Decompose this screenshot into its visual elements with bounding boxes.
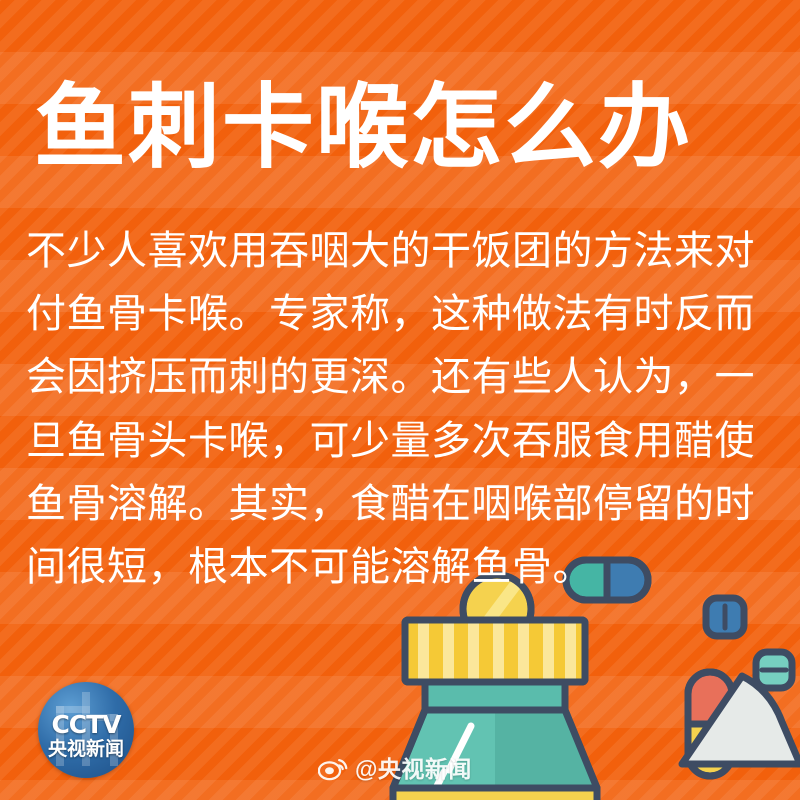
- cctv-wordmark: CCTV: [38, 712, 134, 737]
- cctv-chinese-label: 央视新闻: [38, 740, 134, 759]
- cctv-news-logo: CCTV 央视新闻: [38, 682, 134, 778]
- body-paragraph: 不少人喜欢用吞咽大的干饭团的方法来对付鱼骨卡喉。专家称，这种做法有时反而会因挤压…: [26, 220, 756, 599]
- page-title: 鱼刺卡喉怎么办: [34, 76, 774, 179]
- weibo-eye-icon: [318, 757, 348, 781]
- poster-root: 鱼刺卡喉怎么办 不少人喜欢用吞咽大的干饭团的方法来对付鱼骨卡喉。专家称，这种做法…: [0, 0, 800, 800]
- weibo-watermark: @央视新闻: [318, 757, 472, 781]
- weibo-handle: @央视新闻: [355, 758, 472, 781]
